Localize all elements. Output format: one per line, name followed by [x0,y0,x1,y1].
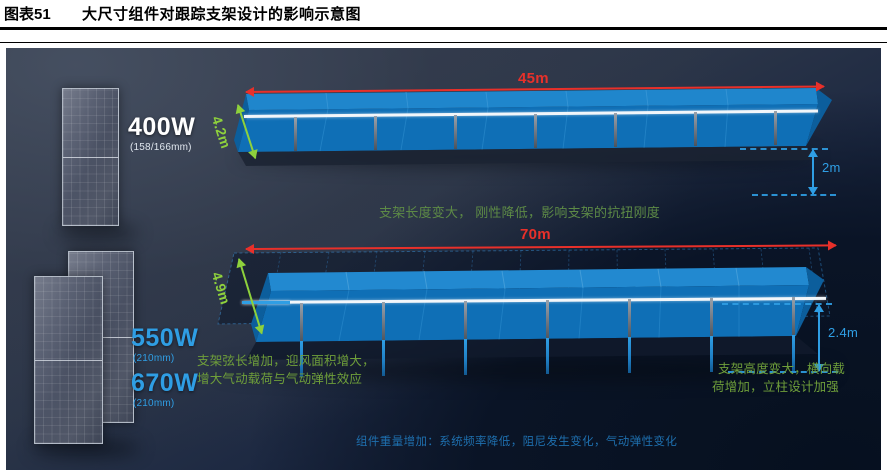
annotation-height-line2: 荷增加，立柱设计加强 [712,379,839,396]
tracker-post [464,301,467,341]
large-tracker-surface [6,48,881,470]
title-rule-bottom [0,42,887,43]
tracker-post [710,298,713,338]
tracker-post [628,299,631,339]
tracker-post [300,303,303,343]
tracker-post-lower [710,336,713,372]
annotation-chord-line2: 增大气动载荷与气动弹性效应 [197,371,362,388]
large-tracker-length-label: 70m [520,226,551,243]
figure-canvas: 400W (158/166mm) 550W (210mm) 670W (210m… [6,48,881,470]
figure-title-bar: 图表51 大尺寸组件对跟踪支架设计的影响示意图 [0,0,887,30]
figure-number: 图表51 [4,6,51,23]
tracker-post [382,302,385,342]
title-rule-top [0,27,887,30]
annotation-chord-line1: 支架弦长增加，迎风面积增大， [197,353,375,370]
tracker-post-lower [546,338,549,374]
tracker-post-lower [628,337,631,373]
tracker-post [546,300,549,340]
tracker-post-lower [382,340,385,376]
annotation-footer: 组件重量增加：系统频率降低，阻尼发生变化，气动弹性变化 [356,433,677,449]
tracker-post-lower [464,339,467,375]
annotation-height-line1: 支架高度变大，横向载 [718,361,845,378]
large-tracker-tube-end [242,301,290,304]
large-tracker-height-label: 2.4m [828,325,858,340]
page-title: 图表51 大尺寸组件对跟踪支架设计的影响示意图 [4,3,361,24]
figure-title-text: 大尺寸组件对跟踪支架设计的影响示意图 [82,6,361,23]
